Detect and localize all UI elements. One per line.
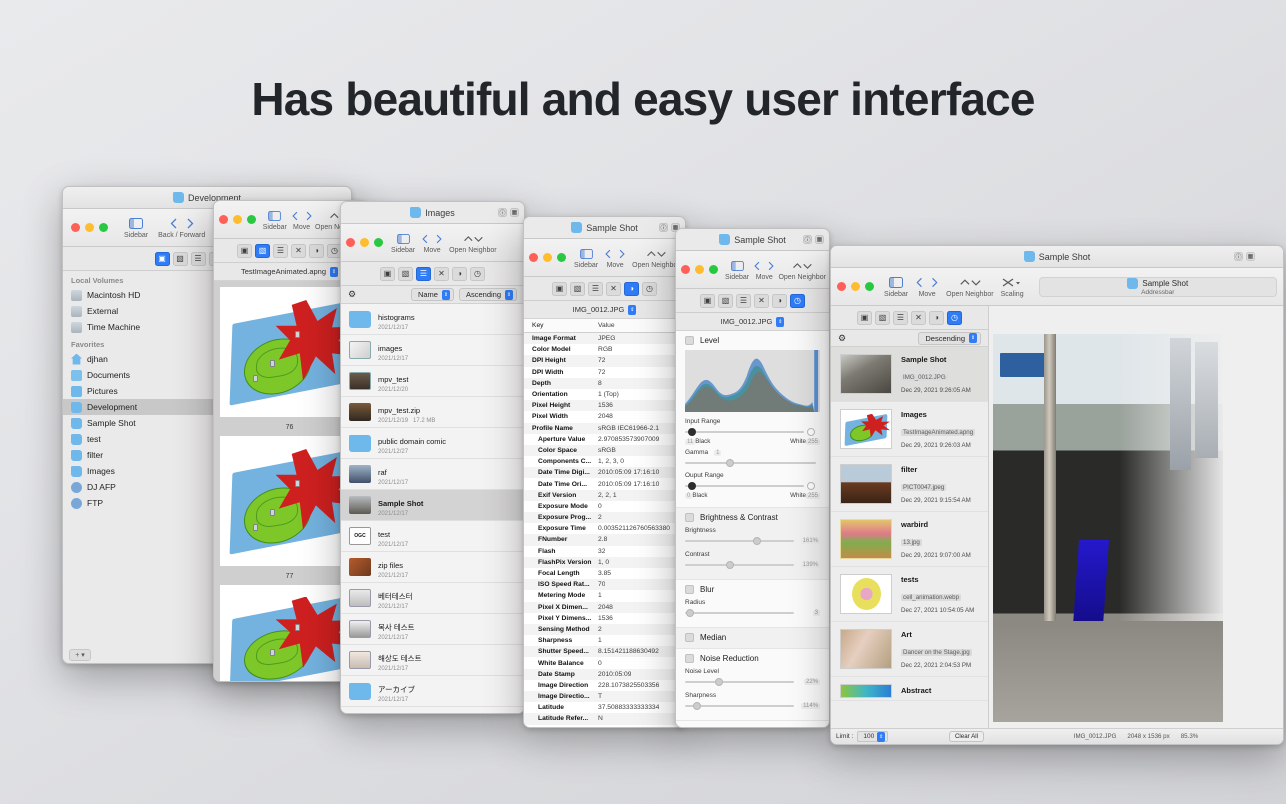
history-list[interactable]: Sample Shot IMG_0012.JPG Dec 29, 2021 9:… xyxy=(831,347,988,744)
group-title[interactable]: Brightness & Contrast xyxy=(685,513,820,522)
table-row[interactable]: Depth8 xyxy=(524,378,685,389)
adjust-panel[interactable]: Level Input Range 11 Black Wh xyxy=(676,331,829,728)
traffic-lights[interactable] xyxy=(346,238,383,247)
metadata-value: 1, 2, 3, 0 xyxy=(598,458,624,465)
list-item[interactable]: Art Dancer on the Stage.jpg Dec 22, 2021… xyxy=(831,622,988,677)
adjust-group-median[interactable]: Median xyxy=(676,628,829,649)
metadata-key: Latitude Refer... xyxy=(524,715,598,722)
chevron-updown-icon[interactable]: ⇕ xyxy=(628,305,636,315)
metadata-value: 72 xyxy=(598,369,605,376)
slider-knob[interactable] xyxy=(715,678,723,686)
minimize-button[interactable] xyxy=(543,253,552,262)
grid-toggle-icon[interactable]: ▦ xyxy=(510,208,519,217)
adjust-group-brightness-contrast[interactable]: Brightness & Contrast Brightness 161% Co… xyxy=(676,508,829,580)
brightness-value[interactable]: 161% xyxy=(801,538,820,544)
table-row[interactable]: Sharpness1 xyxy=(524,635,685,646)
table-row[interactable]: Pixel X Dimen...2048 xyxy=(524,602,685,613)
segment-browser-icon[interactable]: ▣ xyxy=(700,294,715,308)
sidebar-toggle-button[interactable]: Sidebar xyxy=(726,258,748,281)
file-date: 2021/12/17 xyxy=(378,635,408,641)
table-row[interactable]: Image FormatJPEG xyxy=(524,333,685,344)
group-title[interactable]: Level xyxy=(685,336,820,345)
metadata-value: 228.1073825503356 xyxy=(598,682,659,689)
metadata-key: ISO Speed Rat... xyxy=(524,581,598,588)
list-item[interactable]: アーカイブ 2021/12/17 xyxy=(341,676,524,707)
info-toggle-icon[interactable]: ⓘ xyxy=(498,208,507,217)
toolbar-label: Open Neighbor xyxy=(449,247,496,254)
grid-toggle-icon[interactable]: ▦ xyxy=(815,235,824,244)
list-item[interactable]: mpv_test 2021/12/20 xyxy=(341,366,524,397)
table-row[interactable]: Longitude126.885 xyxy=(524,725,685,728)
file-name: images xyxy=(378,344,402,353)
table-row[interactable]: Aperture Value2.970853573907009 xyxy=(524,434,685,445)
slider-label: Gamma xyxy=(685,449,708,456)
slider-label: Brightness xyxy=(685,527,820,534)
segment-list-icon[interactable]: ☰ xyxy=(273,244,288,258)
view-mode-segments[interactable]: ▣ ▧ ☰ ✕ ◑ ◷ xyxy=(676,289,829,313)
segment-list-icon[interactable]: ☰ xyxy=(588,282,603,296)
sidebar-toggle-button[interactable]: Sidebar xyxy=(124,216,148,239)
close-button[interactable] xyxy=(219,215,228,224)
file-name: test xyxy=(378,530,390,539)
metadata-key: Color Space xyxy=(524,447,598,454)
chevron-updown-icon[interactable]: ⇕ xyxy=(776,317,784,327)
move-button[interactable]: Move xyxy=(754,258,774,281)
segment-browser-icon[interactable]: ▣ xyxy=(237,244,252,258)
table-row[interactable]: Date Time Digi...2010:05:09 17:16:10 xyxy=(524,467,685,478)
sidebar-toggle-button[interactable]: Sidebar xyxy=(391,231,415,254)
image-page[interactable] xyxy=(220,436,359,566)
minimize-button[interactable] xyxy=(851,282,860,291)
sort-field-select[interactable]: Name ⇕ xyxy=(411,288,454,301)
titlebar[interactable]: Sample Shot ⓘ ▦ xyxy=(524,217,685,239)
slider-knob[interactable] xyxy=(753,537,761,545)
minimize-button[interactable] xyxy=(695,265,704,274)
segment-list-icon[interactable]: ☰ xyxy=(736,294,751,308)
toolbar[interactable]: Sidebar Move Open Neighbor xyxy=(524,239,685,277)
table-row[interactable]: White Balance0 xyxy=(524,657,685,668)
histogram xyxy=(685,350,820,412)
segment-history-icon[interactable]: ◷ xyxy=(470,267,485,281)
image-page[interactable] xyxy=(220,287,359,417)
chevron-left-right-icon xyxy=(421,231,443,246)
group-title[interactable]: Blur xyxy=(685,585,820,594)
address-title: Sample Shot xyxy=(1127,278,1188,289)
file-name: mpv_test xyxy=(378,375,408,384)
item-title: Sample Shot xyxy=(901,355,971,364)
list-item[interactable]: OGC test 2021/12/17 xyxy=(341,521,524,552)
back-forward-button[interactable]: Back / Forward xyxy=(158,216,205,239)
segment-shuffle-icon[interactable]: ✕ xyxy=(754,294,769,308)
segment-image-icon[interactable]: ▧ xyxy=(173,252,188,266)
segment-info-icon[interactable]: ◑ xyxy=(309,244,324,258)
metadata-value: 72 xyxy=(598,357,605,364)
slider-knob-white[interactable] xyxy=(807,482,815,490)
table-row[interactable]: Profile NamesRGB IEC61966-2.1 xyxy=(524,423,685,434)
table-row[interactable]: Color SpacesRGB xyxy=(524,445,685,456)
folder-icon xyxy=(349,683,371,700)
metadata-value: 2048 xyxy=(598,413,613,420)
view-mode-segments[interactable]: ▣ ▧ ☰ ✕ ◑ ◷ xyxy=(341,262,524,286)
segment-browser-icon[interactable]: ▣ xyxy=(857,311,872,325)
table-row[interactable]: Exposure Prog...2 xyxy=(524,512,685,523)
gear-icon[interactable]: ⚙ xyxy=(838,333,846,344)
segment-shuffle-icon[interactable]: ✕ xyxy=(291,244,306,258)
table-row[interactable]: FNumber2.8 xyxy=(524,534,685,545)
segment-history-icon[interactable]: ◷ xyxy=(642,282,657,296)
open-neighbor-button[interactable]: Open Neighbor xyxy=(632,246,679,269)
table-row[interactable]: ISO Speed Rat...70 xyxy=(524,579,685,590)
list-item[interactable]: zip files 2021/12/17 xyxy=(341,552,524,583)
segment-info-icon[interactable]: ◑ xyxy=(772,294,787,308)
info-toggle-icon[interactable]: ⓘ xyxy=(803,235,812,244)
segment-image-icon[interactable]: ▧ xyxy=(718,294,733,308)
file-thumbnail xyxy=(349,651,371,669)
segment-image-icon[interactable]: ▧ xyxy=(398,267,413,281)
add-favorite-button[interactable]: +▾ xyxy=(69,649,91,661)
metadata-value: 8 xyxy=(598,380,602,387)
nub-icon xyxy=(253,524,258,531)
slider-knob[interactable] xyxy=(693,702,701,710)
metadata-value: 2010:05:09 xyxy=(598,671,631,678)
folder-icon xyxy=(1127,278,1138,289)
list-item[interactable]: images 2021/12/17 xyxy=(341,335,524,366)
table-row[interactable]: Pixel Y Dimens...1536 xyxy=(524,613,685,624)
segment-shuffle-icon[interactable]: ✕ xyxy=(911,311,926,325)
metadata-key: Image Direction xyxy=(524,682,598,689)
history-sort-bar[interactable]: ⚙ Descending ⇕ xyxy=(831,330,988,347)
list-item[interactable]: Sample Shot IMG_0012.JPG Dec 29, 2021 9:… xyxy=(831,347,988,402)
folder-icon xyxy=(1024,251,1035,262)
noise-level-slider[interactable]: 22% xyxy=(685,677,820,687)
chevron-up-down-icon xyxy=(958,275,982,290)
chevron-left-right-icon xyxy=(915,275,939,290)
sidebar-item-label: Pictures xyxy=(87,386,118,396)
table-row[interactable]: Focal Length3.85 xyxy=(524,568,685,579)
metadata-key: Exposure Time xyxy=(524,525,598,532)
list-item[interactable]: raf 2021/12/17 xyxy=(341,459,524,490)
close-button[interactable] xyxy=(346,238,355,247)
minimize-button[interactable] xyxy=(360,238,369,247)
input-range-slider[interactable] xyxy=(685,427,820,437)
segment-info-icon[interactable]: ◑ xyxy=(452,267,467,281)
file-name: mpv_test.zip xyxy=(378,406,420,415)
traffic-lights[interactable] xyxy=(681,265,718,274)
table-row[interactable]: Image Direction228.1073825503356 xyxy=(524,680,685,691)
brightness-slider[interactable]: 161% xyxy=(685,536,820,546)
list-item[interactable]: tests cell_animation.webp Dec 27, 2021 1… xyxy=(831,567,988,622)
file-name: 베터테스터 xyxy=(378,592,413,601)
close-button[interactable] xyxy=(71,223,80,232)
blur-radius-value[interactable]: 3 xyxy=(813,610,820,616)
table-row[interactable]: Date Stamp2010:05:09 xyxy=(524,669,685,680)
sidebar-toggle-button[interactable]: Sidebar xyxy=(884,275,908,298)
file-thumbnail xyxy=(349,620,371,638)
open-neighbor-button[interactable]: Open Neighbor xyxy=(780,258,824,281)
segment-browser-icon[interactable]: ▣ xyxy=(380,267,395,281)
segment-browser-icon[interactable]: ▣ xyxy=(155,252,170,266)
metadata-key: Date Time Ori... xyxy=(524,481,598,488)
sharpness-slider[interactable]: 114% xyxy=(685,701,820,711)
zoom-button[interactable] xyxy=(557,253,566,262)
sidebar-toggle-button[interactable]: Sidebar xyxy=(264,208,286,231)
metadata-value: 1536 xyxy=(598,402,613,409)
file-list[interactable]: histograms 2021/12/17 images 2021/12/17 … xyxy=(341,304,524,714)
address-bar[interactable]: Sample Shot Addressbar xyxy=(1039,277,1277,297)
segment-info-icon[interactable]: ◑ xyxy=(929,311,944,325)
chevron-updown-icon[interactable]: ⇕ xyxy=(330,267,338,277)
segment-history-icon[interactable]: ◷ xyxy=(790,294,805,308)
folder-icon xyxy=(71,466,82,477)
path-bar[interactable]: IMG_0012.JPG ⇕ xyxy=(524,301,685,319)
list-item[interactable]: public domain comic 2021/12/27 xyxy=(341,428,524,459)
slider-knob-black[interactable] xyxy=(688,482,696,490)
list-item[interactable]: histograms 2021/12/17 xyxy=(341,304,524,335)
slider-knob[interactable] xyxy=(686,609,694,617)
artwork-3d xyxy=(220,436,359,566)
blur-radius-slider[interactable]: 3 xyxy=(685,608,820,618)
minimize-button[interactable] xyxy=(233,215,242,224)
move-button[interactable]: Move xyxy=(421,231,443,254)
table-row[interactable]: Components C...1, 2, 3, 0 xyxy=(524,456,685,467)
adjust-group-level[interactable]: Level Input Range 11 Black Wh xyxy=(676,331,829,508)
metadata-value: 2 xyxy=(598,626,602,633)
adjust-group-blur[interactable]: Blur Radius 3 xyxy=(676,580,829,628)
list-item[interactable]: Abstract xyxy=(831,677,988,701)
move-button[interactable]: Move xyxy=(915,275,939,298)
titlebar[interactable]: Images ⓘ ▦ xyxy=(341,202,524,224)
toolbar[interactable]: Sidebar Move Open Neighbor Scaling Sampl… xyxy=(831,268,1283,306)
list-item[interactable]: Sample Shot 2021/12/17 xyxy=(341,490,524,521)
contrast-value[interactable]: 139% xyxy=(801,562,820,568)
disk-icon xyxy=(71,290,82,301)
browser-bottom-bar[interactable]: Limit : 100 ⇕ Clear All xyxy=(831,728,989,744)
view-mode-segments[interactable]: ▣ ▧ ☰ ✕ ◑ ◷ xyxy=(831,306,988,330)
list-item[interactable]: warbird 13.jpg Dec 29, 2021 9:07:00 AM xyxy=(831,512,988,567)
traffic-lights[interactable] xyxy=(529,253,566,262)
input-white-value[interactable]: 255 xyxy=(806,439,820,445)
window-adjust-panel[interactable]: Sample Shot ⓘ ▦ Sidebar Move xyxy=(675,228,830,728)
table-row[interactable]: Exposure Time0.003521126760563380 xyxy=(524,523,685,534)
table-row[interactable]: Exif Version2, 2, 1 xyxy=(524,490,685,501)
segment-image-icon[interactable]: ▧ xyxy=(875,311,890,325)
address-bar-label: Addressbar xyxy=(1141,289,1174,296)
metadata-key: White Balance xyxy=(524,660,598,667)
slider-track xyxy=(685,612,794,614)
table-row[interactable]: DPI Height72 xyxy=(524,355,685,366)
metadata-value: 2048 xyxy=(598,604,613,611)
metadata-table[interactable]: Key Value Image FormatJPEGColor ModelRGB… xyxy=(524,319,685,728)
titlebar[interactable]: Sample Shot ⓘ ▦ xyxy=(676,229,829,251)
slider-track xyxy=(685,564,794,566)
segment-list-icon[interactable]: ☰ xyxy=(191,252,206,266)
pictures-icon xyxy=(71,386,82,397)
toolbar[interactable]: Sidebar Move Open Neighbor xyxy=(676,251,829,289)
zoom-button[interactable] xyxy=(865,282,874,291)
chevron-up-down-icon xyxy=(791,258,813,273)
noise-reduction-checkbox[interactable] xyxy=(685,654,694,663)
info-toggle-icon[interactable]: ⓘ xyxy=(1234,252,1243,261)
table-row[interactable]: Color ModelRGB xyxy=(524,344,685,355)
nub-icon xyxy=(295,624,300,631)
table-row[interactable]: Image Directio...T xyxy=(524,691,685,702)
open-neighbor-button[interactable]: Open Neighbor xyxy=(449,231,496,254)
image-page[interactable] xyxy=(220,585,359,682)
gamma-value[interactable]: 1 xyxy=(714,450,721,456)
segment-shuffle-icon[interactable]: ✕ xyxy=(606,282,621,296)
slider-track xyxy=(685,462,816,464)
gear-icon[interactable]: ⚙ xyxy=(348,289,356,300)
item-title: tests xyxy=(901,575,974,584)
close-button[interactable] xyxy=(837,282,846,291)
segment-info-icon[interactable]: ◑ xyxy=(624,282,639,296)
slider-knob-black[interactable] xyxy=(688,428,696,436)
segment-shuffle-icon[interactable]: ✕ xyxy=(434,267,449,281)
table-body[interactable]: Image FormatJPEGColor ModelRGBDPI Height… xyxy=(524,333,685,728)
adjust-group-noise-reduction[interactable]: Noise Reduction Noise Level 22% Sharpnes… xyxy=(676,649,829,721)
zoom-button[interactable] xyxy=(374,238,383,247)
input-black-value[interactable]: 11 xyxy=(685,439,695,445)
item-filename: IMG_0012.JPG xyxy=(901,374,948,381)
sort-bar[interactable]: ⚙ Name ⇕ Ascending ⇕ xyxy=(341,286,524,304)
sort-order-select[interactable]: Descending ⇕ xyxy=(918,332,981,345)
table-row[interactable]: Flash32 xyxy=(524,546,685,557)
contrast-slider[interactable]: 139% xyxy=(685,560,820,570)
minimize-button[interactable] xyxy=(85,223,94,232)
table-row[interactable]: Latitude Refer...N xyxy=(524,713,685,724)
toolbar[interactable]: Sidebar Move Open Neighbor xyxy=(341,224,524,262)
file-date: 2021/12/17 xyxy=(378,604,408,610)
table-row[interactable]: Latitude37.50883333333334 xyxy=(524,702,685,713)
chevron-left-right-icon xyxy=(169,216,195,231)
table-row[interactable]: Pixel Height1536 xyxy=(524,400,685,411)
list-item[interactable]: filter PICT0047.jpeg Dec 29, 2021 9:15:5… xyxy=(831,457,988,512)
grid-toggle-icon[interactable]: ▦ xyxy=(1246,252,1255,261)
blur-checkbox[interactable] xyxy=(685,585,694,594)
sort-order-select[interactable]: Ascending ⇕ xyxy=(459,288,517,301)
list-item[interactable]: 복사 테스트 2021/12/17 xyxy=(341,614,524,645)
traffic-lights[interactable] xyxy=(71,223,108,232)
group-label: Blur xyxy=(700,585,714,594)
item-title: warbird xyxy=(901,520,971,529)
scaling-button[interactable]: Scaling xyxy=(1001,275,1024,298)
limit-select[interactable]: 100 ⇕ xyxy=(857,731,888,742)
close-button[interactable] xyxy=(529,253,538,262)
list-item[interactable]: 해상도 테스트 2021/12/17 xyxy=(341,645,524,676)
metadata-key: Exposure Mode xyxy=(524,503,598,510)
blue-tarp xyxy=(1073,540,1109,625)
artwork-3d xyxy=(220,585,359,682)
move-button[interactable]: Move xyxy=(604,246,626,269)
clear-all-button[interactable]: Clear All xyxy=(949,731,984,742)
sidebar-icon xyxy=(129,216,143,231)
slider-knob[interactable] xyxy=(726,459,734,467)
metadata-value: 1, 0 xyxy=(598,559,609,566)
zoom-button[interactable] xyxy=(709,265,718,274)
table-row[interactable]: FlashPix Version1, 0 xyxy=(524,557,685,568)
zoom-button[interactable] xyxy=(247,215,256,224)
titlebar[interactable]: Sample Shot ⓘ ▦ xyxy=(831,246,1283,268)
path-label: IMG_0012.JPG xyxy=(573,305,625,314)
metadata-key: Depth xyxy=(524,380,598,387)
toolbar-label: Move xyxy=(424,247,441,254)
table-row[interactable]: Orientation1 (Top) xyxy=(524,389,685,400)
table-row[interactable]: Pixel Width2048 xyxy=(524,411,685,422)
sharpness-value[interactable]: 114% xyxy=(801,703,820,709)
list-item[interactable]: 베터테스터 2021/12/17 xyxy=(341,583,524,614)
traffic-lights[interactable] xyxy=(219,215,256,224)
table-row[interactable]: Exposure Mode0 xyxy=(524,501,685,512)
segment-image-icon[interactable]: ▧ xyxy=(255,244,270,258)
sidebar-toggle-button[interactable]: Sidebar xyxy=(574,246,598,269)
table-row[interactable]: Metering Mode1 xyxy=(524,590,685,601)
segment-list-icon[interactable]: ☰ xyxy=(416,267,431,281)
move-button[interactable]: Move xyxy=(292,208,312,231)
segment-browser-icon[interactable]: ▣ xyxy=(552,282,567,296)
segment-history-icon[interactable]: ◷ xyxy=(947,311,962,325)
file-date: 2021/12/17 xyxy=(378,511,408,517)
photo-pane[interactable] xyxy=(989,306,1283,744)
file-date: 2021/12/27 xyxy=(378,449,408,455)
folder-icon xyxy=(571,222,582,233)
table-row[interactable]: Date Time Ori...2010:05:09 17:16:10 xyxy=(524,478,685,489)
metadata-key: Latitude xyxy=(524,704,598,711)
metadata-key: Image Format xyxy=(524,335,598,342)
output-black-value[interactable]: 0 xyxy=(685,493,692,499)
level-checkbox[interactable] xyxy=(685,336,694,345)
item-date: Dec 29, 2021 9:26:05 AM xyxy=(901,387,971,394)
brightness-contrast-checkbox[interactable] xyxy=(685,513,694,522)
view-mode-segments[interactable]: ▣ ▧ ☰ ✕ ◑ ◷ xyxy=(524,277,685,301)
slider-knob[interactable] xyxy=(726,561,734,569)
info-toggle-icon[interactable]: ⓘ xyxy=(659,223,668,232)
traffic-lights[interactable] xyxy=(837,282,874,291)
segment-image-icon[interactable]: ▧ xyxy=(570,282,585,296)
file-name: zip files xyxy=(378,561,403,570)
metadata-value: 2.970853573907009 xyxy=(598,436,659,443)
output-range-slider[interactable] xyxy=(685,481,820,491)
metadata-value: 2.8 xyxy=(598,536,607,543)
gamma-slider[interactable] xyxy=(685,458,820,468)
table-row[interactable]: DPI Width72 xyxy=(524,367,685,378)
list-item[interactable]: Images TestImageAnimated.apng Dec 29, 20… xyxy=(831,402,988,457)
table-row[interactable]: Shutter Speed...8.151421188630492 xyxy=(524,646,685,657)
group-title[interactable]: Median xyxy=(685,633,820,642)
list-item[interactable]: mpv_test.zip 2021/12/19 17.2 MB xyxy=(341,397,524,428)
slider-knob-white[interactable] xyxy=(807,428,815,436)
table-row[interactable]: Sensing Method2 xyxy=(524,624,685,635)
metadata-value: sRGB xyxy=(598,447,616,454)
open-neighbor-button[interactable]: Open Neighbor xyxy=(946,275,993,298)
window-thumbnail-browser[interactable]: Sample Shot ⓘ ▦ Sidebar Move xyxy=(830,245,1284,745)
output-white-value[interactable]: 255 xyxy=(806,493,820,499)
metadata-key: Metering Mode xyxy=(524,592,598,599)
segment-list-icon[interactable]: ☰ xyxy=(893,311,908,325)
path-bar[interactable]: IMG_0012.JPG ⇕ xyxy=(676,313,829,331)
noise-level-value[interactable]: 22% xyxy=(804,679,820,685)
zoom-button[interactable] xyxy=(99,223,108,232)
chevron-left-right-icon xyxy=(291,208,313,223)
window-metadata[interactable]: Sample Shot ⓘ ▦ Sidebar Move xyxy=(523,216,686,728)
window-file-list[interactable]: Images ⓘ ▦ Sidebar Move xyxy=(340,201,525,714)
close-button[interactable] xyxy=(681,265,690,274)
group-title[interactable]: Noise Reduction xyxy=(685,654,820,663)
median-checkbox[interactable] xyxy=(685,633,694,642)
metadata-key: Pixel X Dimen... xyxy=(524,604,598,611)
toolbar-label: Back / Forward xyxy=(158,232,205,239)
toolbar-label: Sidebar xyxy=(574,262,598,269)
item-thumbnail xyxy=(840,684,892,698)
